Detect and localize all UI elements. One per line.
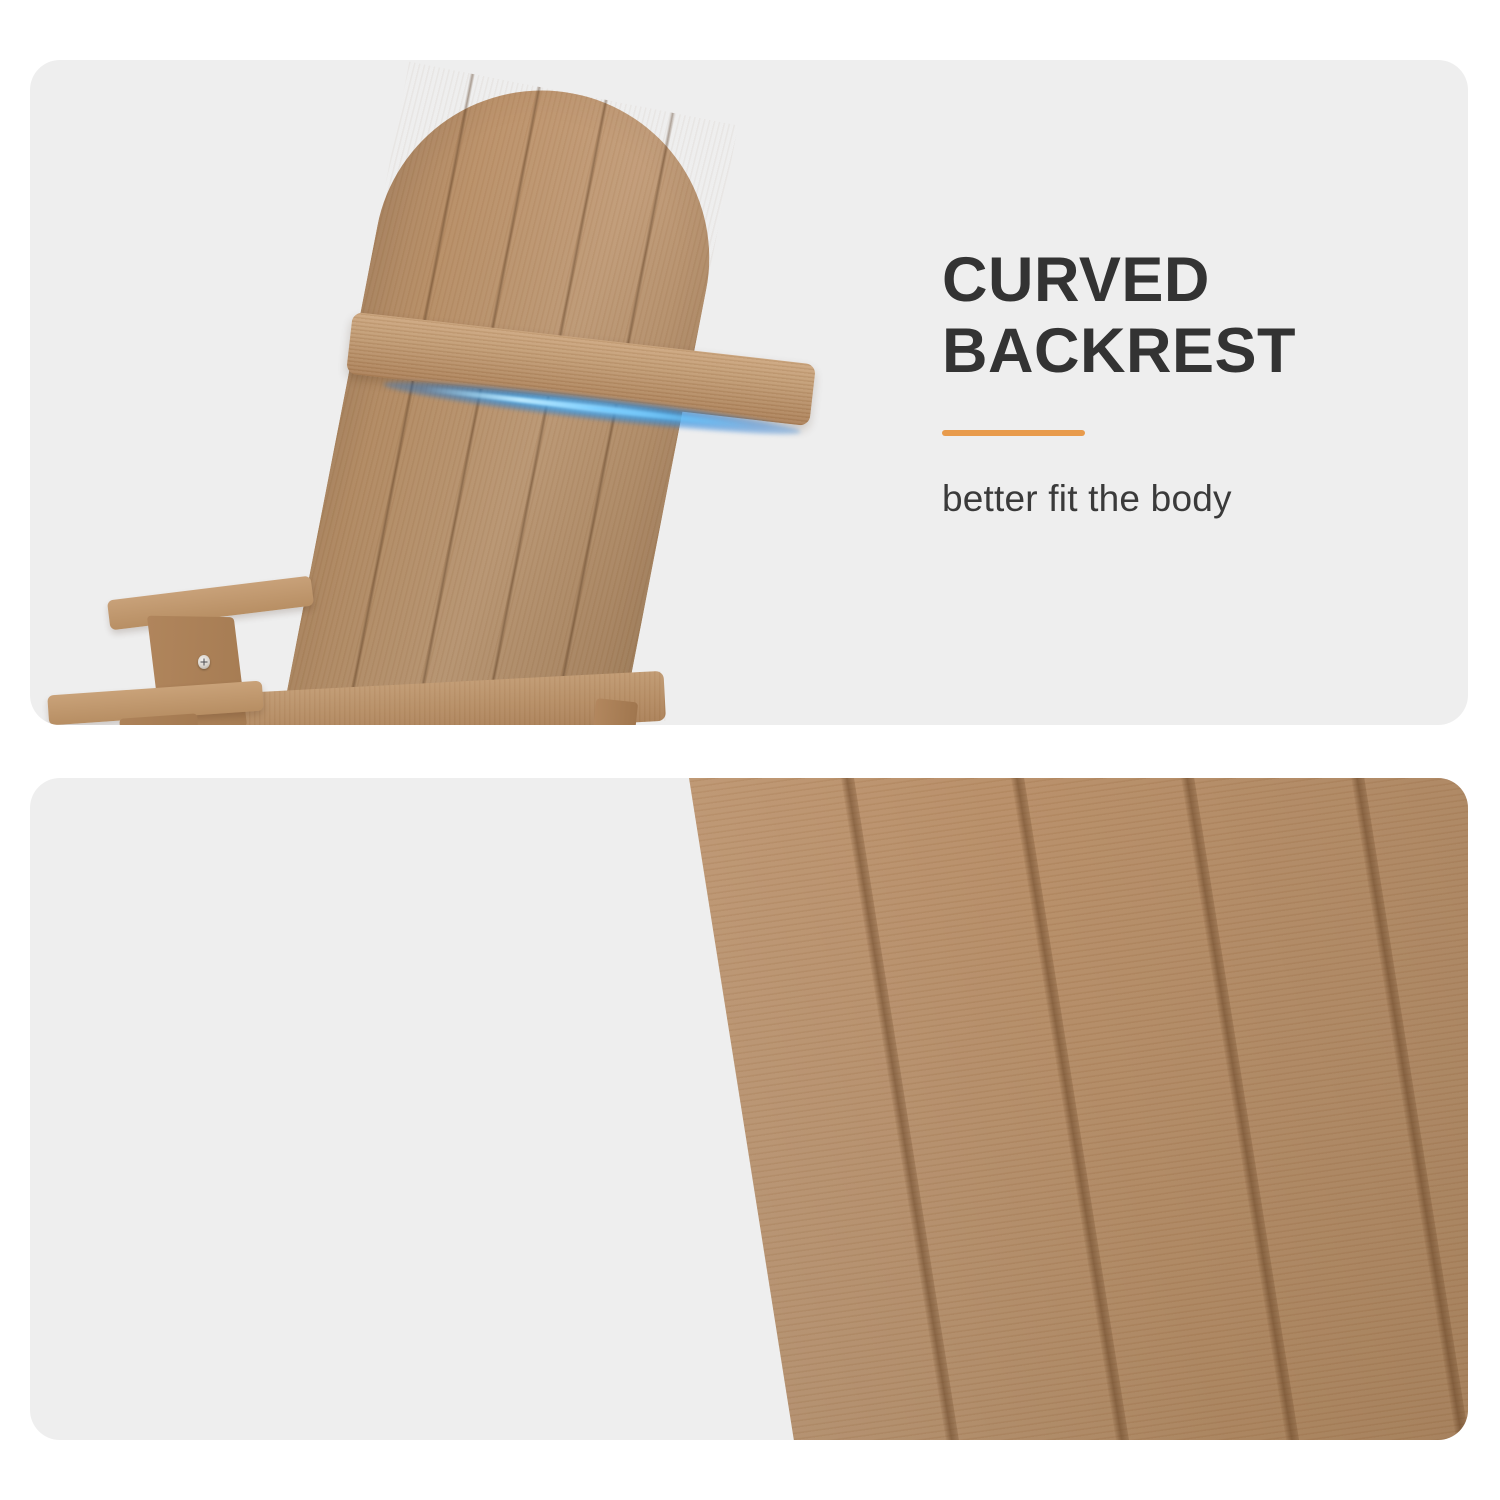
chair-armrest-illustration (30, 778, 1468, 1440)
headline-curved-backrest: CURVED BACKREST (942, 245, 1412, 386)
feature-panel-wide-armrests: WIDE ARMRESTS for better arm relaxation (30, 778, 1468, 1440)
subline-curved-backrest: better fit the body (942, 478, 1412, 520)
callout-curved-backrest: CURVED BACKREST better fit the body (942, 245, 1412, 520)
backrest-slat-field (670, 778, 1468, 1440)
screw-fastener (198, 655, 210, 669)
feature-panel-curved-backrest: CURVED BACKREST better fit the body (30, 60, 1468, 725)
product-feature-graphic: CURVED BACKREST better fit the body (0, 0, 1500, 1500)
accent-divider (942, 430, 1085, 436)
